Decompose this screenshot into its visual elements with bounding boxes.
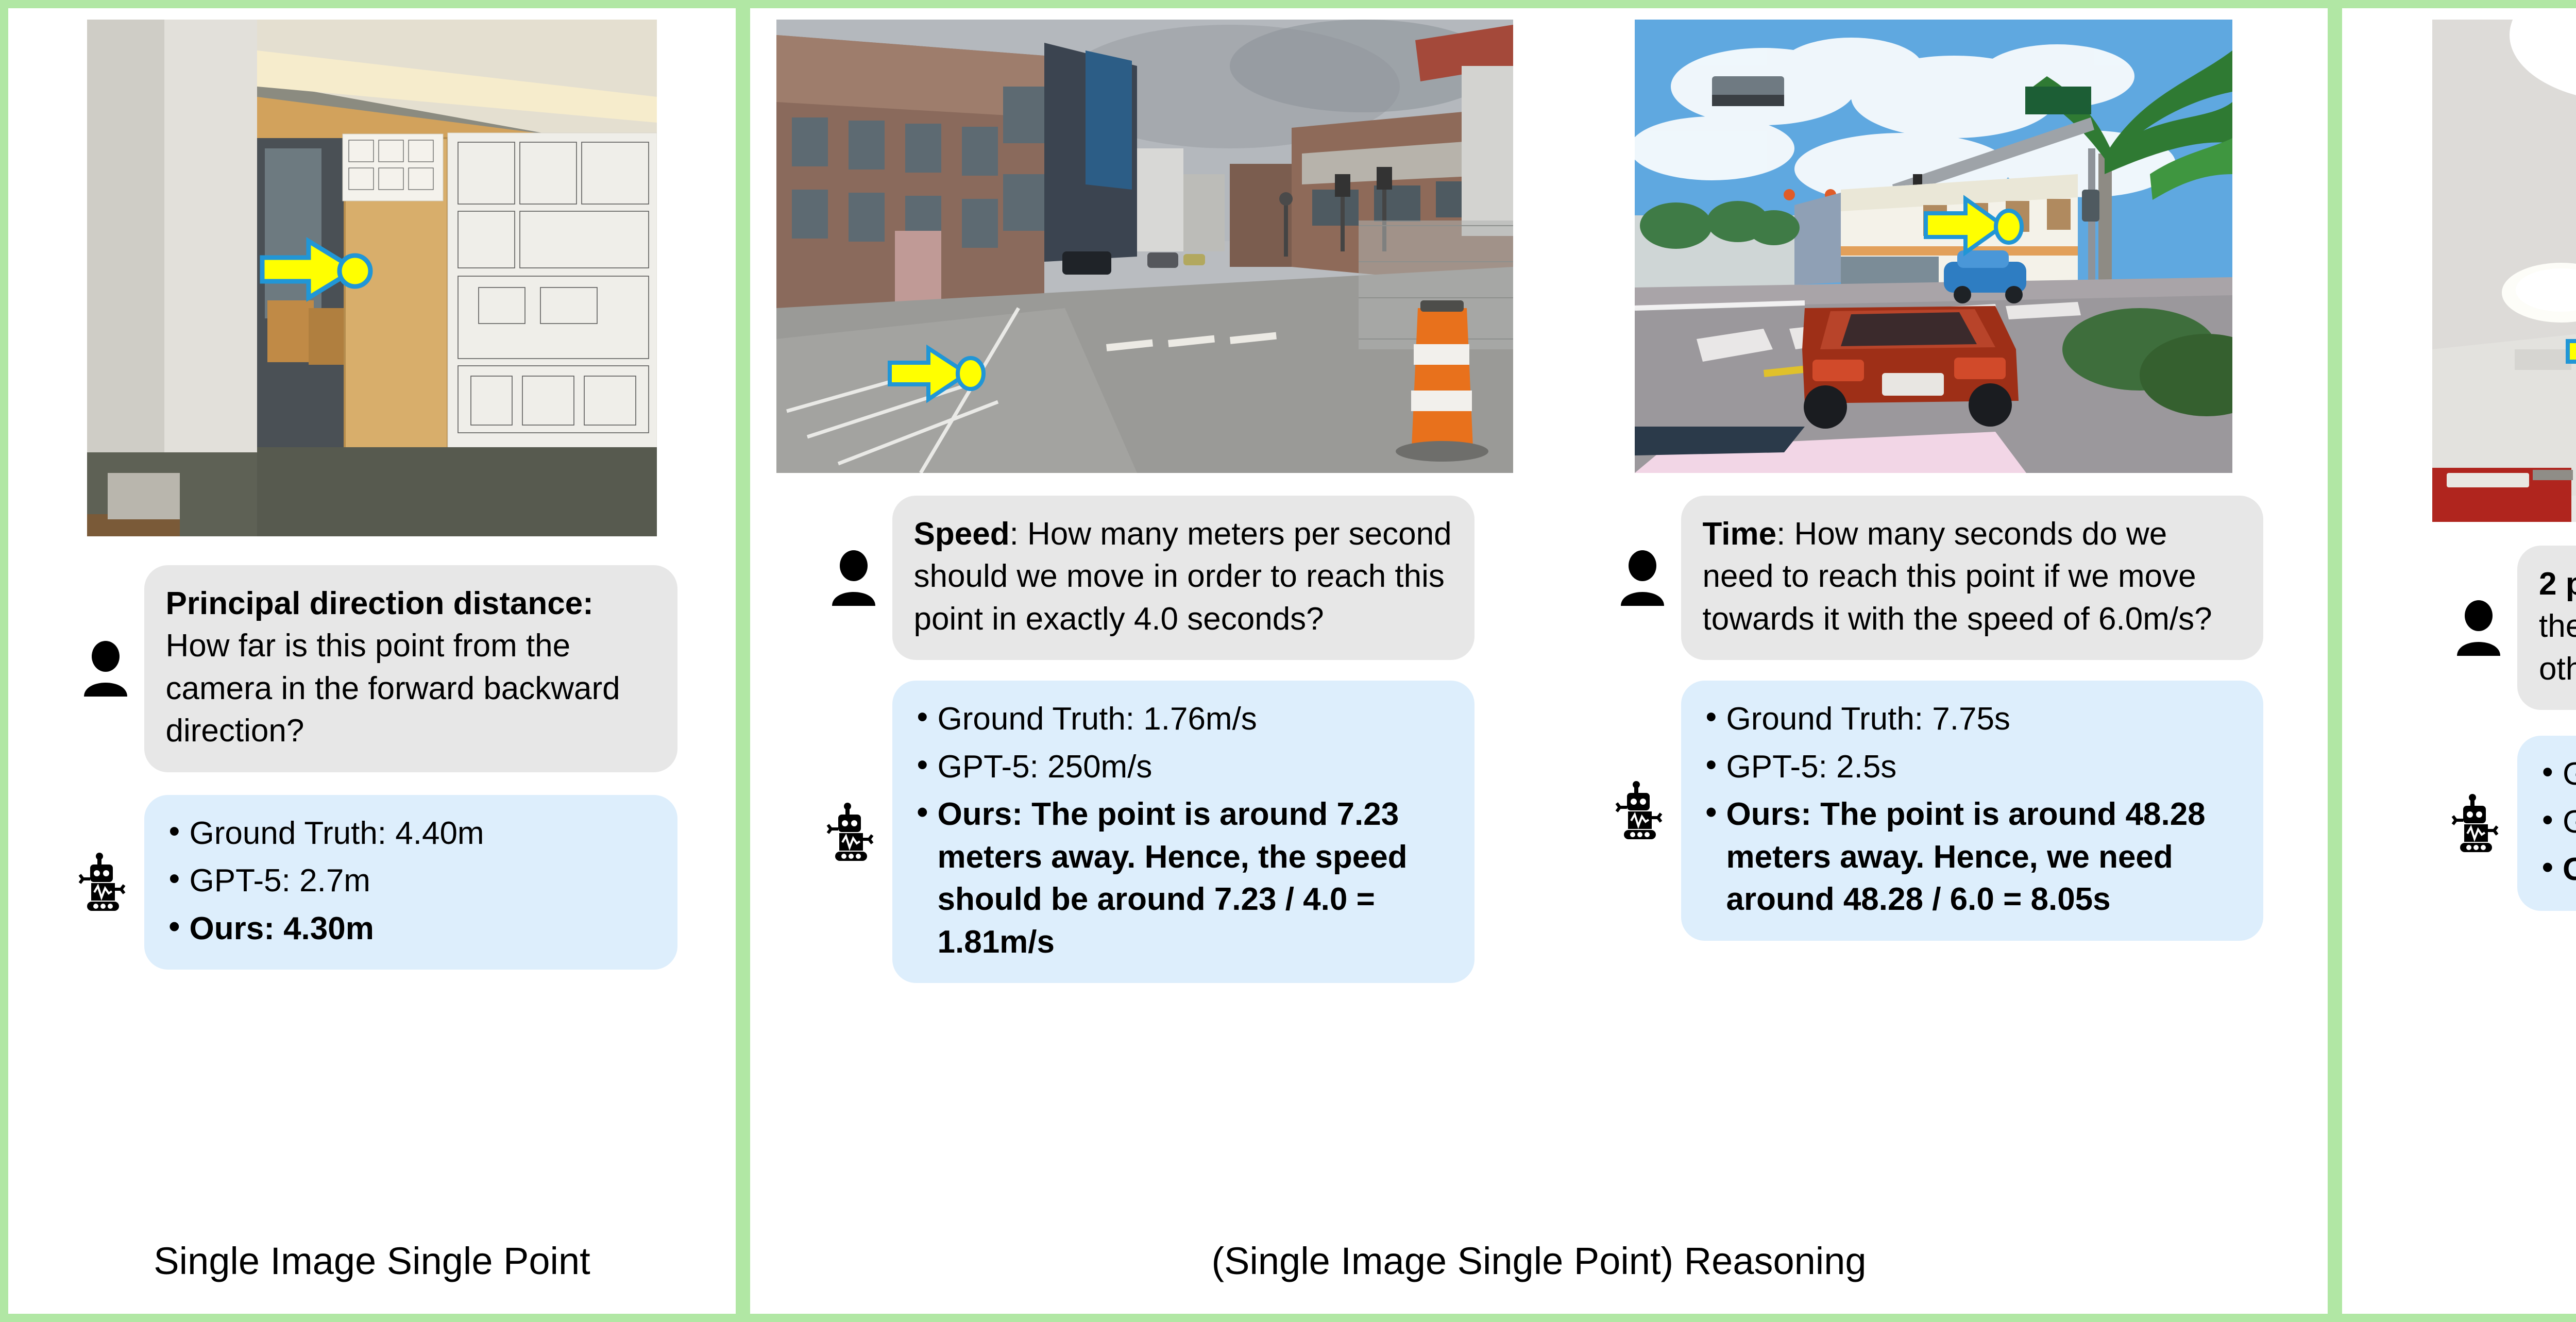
question-bubble: Time: How many seconds do we need to rea… (1681, 496, 2263, 660)
panel-multi-point: 2 point distance: How far are these 2 po… (2328, 8, 2576, 1314)
panel-caption: (Single Image Single Point) Reasoning (750, 1237, 2328, 1314)
user-avatar (1604, 550, 1681, 606)
answer-bubble: Ground Truth: 4.40m GPT-5: 2.7m Ours: 4.… (144, 795, 677, 970)
panel-caption: Multi-Point (2342, 1237, 2576, 1314)
question-row: Principal direction distance: How far is… (67, 565, 677, 772)
question-label: Time (1703, 516, 1777, 552)
question-text: : How many seconds do we need to reach t… (1703, 516, 2212, 637)
answer-gpt5: GPT-5: 2.5s (1703, 746, 2242, 788)
panel-caption: Single Image Single Point (8, 1237, 736, 1314)
qualitative-results-figure: Principal direction distance: How far is… (0, 0, 2576, 1322)
robot-avatar (1604, 781, 1681, 840)
answer-bubble: Ground Truth: 1.76m/s GPT-5: 250m/s Ours… (892, 681, 1475, 983)
answer-bubble: Ground Truth: 2.51m GPT-5: 1.26m Ours: 2… (2517, 736, 2576, 910)
right-arrow-marker (2565, 324, 2576, 380)
answer-ground-truth: Ground Truth: 4.40m (166, 812, 656, 855)
panel-single-image-single-point: Principal direction distance: How far is… (8, 8, 736, 1314)
question-row: Speed: How many meters per second should… (815, 496, 1475, 660)
robot-avatar (67, 852, 144, 912)
photo-miami-intersection (1635, 20, 2232, 473)
question-bubble: Speed: How many meters per second should… (892, 496, 1475, 660)
answer-ground-truth: Ground Truth: 1.76m/s (914, 698, 1453, 740)
answer-ours: Ours: 4.30m (166, 908, 656, 950)
user-avatar (2440, 600, 2517, 656)
robot-avatar (2440, 793, 2517, 853)
answer-row: Ground Truth: 7.75s GPT-5: 2.5s Ours: Th… (1604, 681, 2263, 940)
question-label: Principal direction distance: (166, 586, 594, 621)
question-bubble: Principal direction distance: How far is… (144, 565, 677, 772)
photo-office-ceiling (2432, 20, 2576, 522)
answer-ground-truth: Ground Truth: 7.75s (1703, 698, 2242, 740)
answer-list: Ground Truth: 7.75s GPT-5: 2.5s Ours: Th… (1703, 698, 2242, 921)
answer-ours: Ours: The point is around 48.28 meters a… (1703, 793, 2242, 921)
panel-reasoning: Speed: How many meters per second should… (736, 8, 2328, 1314)
answer-row: Ground Truth: 2.51m GPT-5: 1.26m Ours: 2… (2440, 736, 2576, 910)
photo-urban-street (776, 20, 1513, 473)
answer-ours: Ours: 2.35m (2539, 849, 2576, 891)
answer-ground-truth: Ground Truth: 2.51m (2539, 753, 2576, 795)
answer-bubble: Ground Truth: 7.75s GPT-5: 2.5s Ours: Th… (1681, 681, 2263, 940)
answer-list: Ground Truth: 1.76m/s GPT-5: 250m/s Ours… (914, 698, 1453, 963)
answer-ours: Ours: The point is around 7.23 meters aw… (914, 793, 1453, 963)
answer-row: Ground Truth: 4.40m GPT-5: 2.7m Ours: 4.… (67, 795, 677, 970)
point-dot-marker (953, 353, 989, 394)
question-row: Time: How many seconds do we need to rea… (1604, 496, 2263, 660)
photo-indoor-corridor (87, 20, 657, 536)
answer-gpt5: GPT-5: 1.26m (2539, 801, 2576, 843)
question-label: 2 point distance (2539, 566, 2576, 602)
question-bubble: 2 point distance: How far are these 2 po… (2517, 546, 2576, 710)
question-label: Speed (914, 516, 1010, 552)
user-avatar (815, 550, 892, 606)
answer-gpt5: GPT-5: 250m/s (914, 746, 1453, 788)
point-dot-marker (1990, 206, 2027, 247)
answer-list: Ground Truth: 4.40m GPT-5: 2.7m Ours: 4.… (166, 812, 656, 950)
answer-list: Ground Truth: 2.51m GPT-5: 1.26m Ours: 2… (2539, 753, 2576, 891)
answer-gpt5: GPT-5: 2.7m (166, 860, 656, 902)
user-avatar (67, 641, 144, 697)
question-text: How far is this point from the camera in… (166, 628, 620, 749)
answer-row: Ground Truth: 1.76m/s GPT-5: 250m/s Ours… (815, 681, 1475, 983)
question-row: 2 point distance: How far are these 2 po… (2440, 546, 2576, 710)
robot-avatar (815, 802, 892, 862)
point-dot-marker (334, 250, 376, 292)
